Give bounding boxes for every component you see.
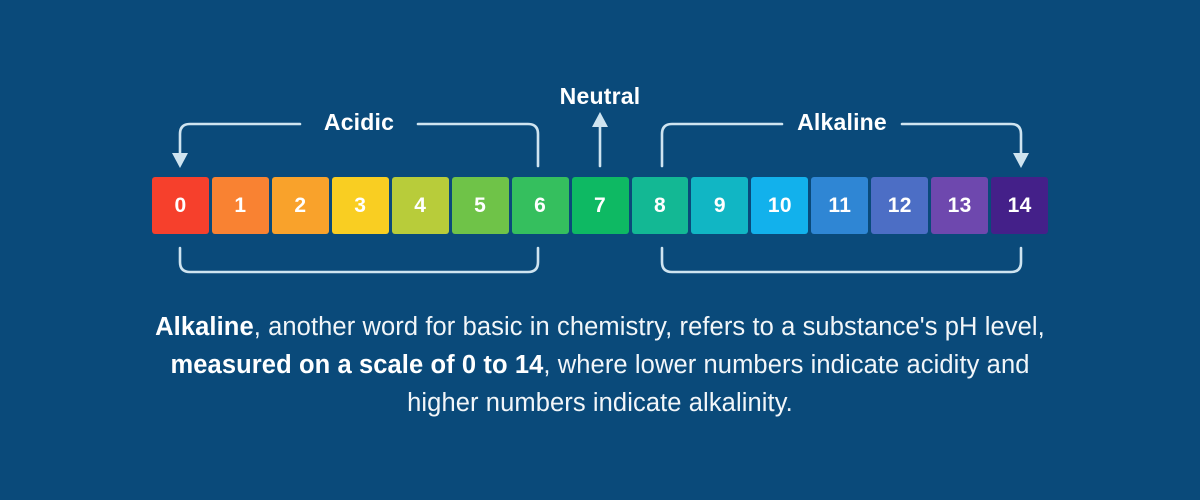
ph-tile-6: 6 — [512, 177, 569, 234]
ph-tile-label: 3 — [354, 195, 366, 216]
caption-line-1-rest: , another word for basic in chemistry, r… — [254, 313, 938, 341]
caption-line-1: Alkaline, another word for basic in chem… — [155, 313, 937, 341]
ph-tile-label: 14 — [1008, 195, 1032, 216]
bracket-layer — [0, 0, 1200, 300]
ph-tile-label: 10 — [768, 195, 792, 216]
ph-tile-label: 4 — [414, 195, 426, 216]
alkaline-bottom-bracket-icon — [662, 248, 1021, 272]
acidic-bottom-bracket-icon — [180, 248, 538, 272]
neutral-arrow-head-icon — [592, 112, 608, 127]
ph-tile-label: 6 — [534, 195, 546, 216]
ph-tile-3: 3 — [332, 177, 389, 234]
ph-tile-0: 0 — [152, 177, 209, 234]
ph-tile-4: 4 — [392, 177, 449, 234]
ph-scale-infographic: Acidic Neutral Alkaline 0123456789101112… — [0, 0, 1200, 500]
ph-tile-label: 2 — [294, 195, 306, 216]
ph-tile-label: 0 — [174, 195, 186, 216]
caption-bold-alkaline: Alkaline — [155, 313, 254, 341]
ph-tile-11: 11 — [811, 177, 868, 234]
acidic-arrow-head-icon — [172, 153, 188, 168]
caption-text: Alkaline, another word for basic in chem… — [140, 308, 1060, 422]
ph-scale-strip: 01234567891011121314 — [152, 177, 1048, 234]
ph-tile-10: 10 — [751, 177, 808, 234]
ph-tile-label: 8 — [654, 195, 666, 216]
range-label-neutral: Neutral — [560, 83, 641, 110]
caption-bold-scale: measured on a scale of 0 to 14 — [170, 351, 543, 379]
ph-tile-12: 12 — [871, 177, 928, 234]
ph-tile-label: 9 — [714, 195, 726, 216]
ph-tile-9: 9 — [691, 177, 748, 234]
ph-tile-14: 14 — [991, 177, 1048, 234]
alkaline-arrow-head-icon — [1013, 153, 1029, 168]
ph-tile-13: 13 — [931, 177, 988, 234]
ph-tile-label: 13 — [948, 195, 972, 216]
ph-tile-label: 12 — [888, 195, 912, 216]
caption-line-2-post: , where lower numbers — [543, 351, 803, 379]
ph-tile-8: 8 — [632, 177, 689, 234]
range-label-acidic: Acidic — [324, 109, 394, 136]
ph-tile-label: 5 — [474, 195, 486, 216]
ph-tile-7: 7 — [572, 177, 629, 234]
range-label-alkaline: Alkaline — [797, 109, 887, 136]
ph-tile-label: 7 — [594, 195, 606, 216]
ph-tile-1: 1 — [212, 177, 269, 234]
ph-tile-label: 11 — [828, 195, 851, 216]
ph-tile-label: 1 — [234, 195, 246, 216]
caption-line-2-pre: pH level, — [945, 313, 1045, 341]
ph-tile-5: 5 — [452, 177, 509, 234]
ph-tile-2: 2 — [272, 177, 329, 234]
